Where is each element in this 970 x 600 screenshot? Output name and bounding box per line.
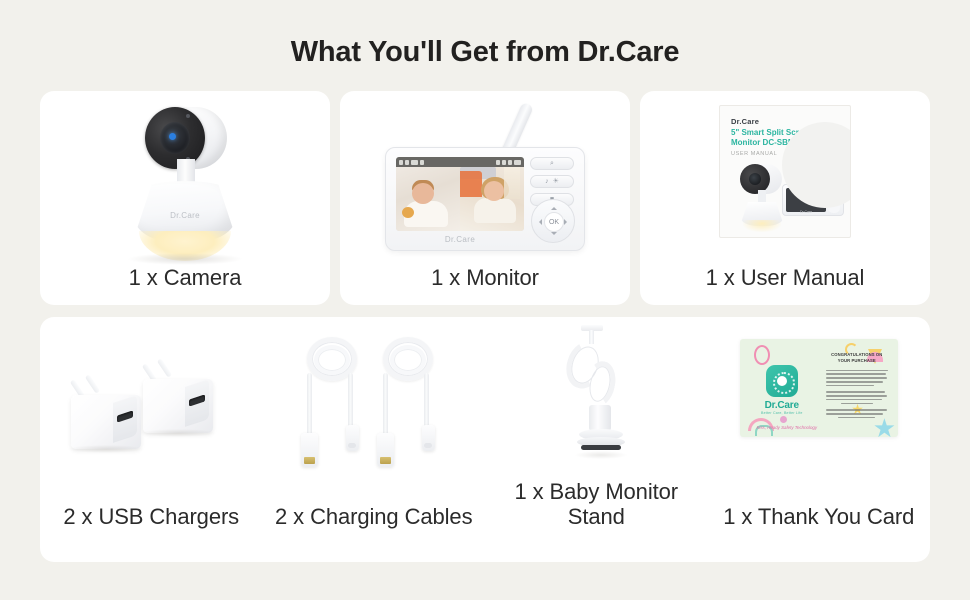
page-title: What You'll Get from Dr.Care (40, 0, 930, 91)
cable-one-lead-right (348, 373, 353, 429)
thank-you-paragraph-two (826, 391, 888, 404)
usb-charger-one (63, 379, 141, 449)
status-icon-clock (514, 160, 521, 165)
camera-lens-ring (145, 107, 205, 169)
monitor-button-zoom[interactable]: ⌕ (530, 157, 574, 170)
chevron-left-icon[interactable] (536, 219, 542, 225)
chevron-down-icon[interactable] (551, 232, 557, 238)
manual-camera-image (732, 164, 786, 230)
camera-drop-shadow (127, 253, 243, 265)
manual-camera-glow (743, 220, 781, 232)
caption-user-manual: 1 x User Manual (640, 265, 930, 291)
product-contents-page: What You'll Get from Dr.Care Dr.Care (0, 0, 970, 600)
monitor-pane-left (396, 167, 460, 231)
monitor-control-panel[interactable]: ⌕ ♪ ☀ ■ (530, 157, 576, 243)
manual-monitor-label: Dr.Care (786, 210, 826, 214)
thank-you-heading: CONGRATULATIONS ON YOUR PURCHASE (826, 352, 888, 365)
camera-device-icon: Dr.Care (119, 107, 251, 267)
card-camera[interactable]: Dr.Care 1 x Camera (40, 91, 330, 305)
cell-charging-cables[interactable]: 2 x Charging Cables (263, 317, 486, 562)
baby-one-toy (402, 207, 414, 218)
cable-one-usb-a-connector (301, 433, 318, 467)
monitor-device-icon: Dr.Care ⌕ ♪ ☀ ■ (380, 97, 590, 257)
usb-charger-two (135, 363, 213, 433)
cable-one-coil-inner (314, 345, 350, 375)
camera-lens (160, 122, 190, 154)
camera-brand-label: Dr.Care (119, 211, 251, 220)
camera-sensor-dot-top (186, 114, 190, 118)
dot-doodle-icon (780, 416, 787, 423)
manual-subtitle: USER MANUAL (731, 151, 777, 157)
caption-monitor: 1 x Monitor (340, 265, 630, 291)
monitor-brand-label: Dr.Care (396, 235, 524, 244)
cell-baby-monitor-stand[interactable]: 1 x Baby Monitor Stand (485, 317, 708, 562)
dr-care-logo-icon (766, 365, 798, 397)
card-user-manual[interactable]: Dr.Care 5" Smart Split Screen Baby Monit… (640, 91, 930, 305)
manual-camera-lens (749, 173, 761, 185)
ok-button[interactable]: OK (544, 212, 564, 232)
charging-cable-icons (299, 333, 449, 473)
cell-thank-you-card[interactable]: Dr.Care Better Care, Better Life Kiss, H… (708, 317, 931, 562)
cable-two-usb-a-connector (377, 433, 394, 467)
card-monitor[interactable]: Dr.Care ⌕ ♪ ☀ ■ (340, 91, 630, 305)
baby-two-body (474, 198, 516, 223)
brightness-icon: ☀ (553, 178, 559, 185)
monitor-split-view (396, 167, 524, 231)
monitor-button-lullaby[interactable]: ♪ ☀ (530, 175, 574, 188)
caption-usb-chargers: 2 x USB Chargers (40, 504, 263, 530)
thank-you-body: CONGRATULATIONS ON YOUR PURCHASE (826, 352, 888, 421)
charging-cable-one (299, 333, 365, 473)
status-icon-mode (496, 160, 500, 165)
stand-clamp-grip (581, 445, 621, 450)
chevron-up-icon[interactable] (551, 204, 557, 210)
monitor-body: Dr.Care ⌕ ♪ ☀ ■ (385, 147, 585, 251)
baby-two-head (484, 181, 504, 201)
chevron-right-icon[interactable] (564, 219, 570, 225)
baby-monitor-stand-icon (551, 325, 641, 465)
caption-charging-cables: 2 x Charging Cables (263, 504, 486, 530)
top-card-row: Dr.Care 1 x Camera (40, 91, 930, 305)
status-icon-signal (399, 160, 403, 165)
status-icon-record (508, 160, 512, 165)
charging-cable-two (375, 333, 441, 473)
charger-two-pin-right (157, 358, 172, 377)
manual-monitor-body: Dr.Care (782, 184, 844, 216)
cable-two-usb-c-connector (422, 425, 435, 451)
thank-you-footer: Kiss, Heady Safety Technology (750, 425, 824, 430)
cable-two-coil-inner (390, 345, 426, 375)
usb-charger-icons (63, 357, 239, 467)
cell-usb-chargers[interactable]: 2 x USB Chargers (40, 317, 263, 562)
caption-thank-you-card: 1 x Thank You Card (708, 504, 931, 530)
monitor-status-bar (396, 157, 524, 167)
cable-two-lead-right (424, 373, 429, 429)
manual-camera-neck (758, 190, 766, 204)
manual-title: 5" Smart Split Screen Baby Monitor DC-SB… (731, 128, 843, 148)
charger-one-shadow (69, 445, 143, 453)
cable-one-usb-c-connector (346, 425, 359, 451)
manual-monitor-antenna (786, 169, 799, 189)
charger-one-pin-right (85, 374, 100, 393)
bottom-card-row: 2 x USB Chargers (40, 317, 930, 562)
cable-one-lead-left (307, 373, 312, 437)
stand-drop-shadow (575, 451, 627, 459)
caption-baby-monitor-stand: 1 x Baby Monitor Stand (485, 479, 708, 530)
thank-you-paragraph-one (826, 370, 888, 387)
magnifier-icon: ⌕ (550, 160, 554, 167)
thank-you-brand: Dr.Care (754, 400, 810, 411)
manual-monitor-controls (828, 189, 840, 213)
manual-monitor-image: Dr.Care (782, 180, 844, 216)
monitor-screen (396, 157, 524, 231)
manual-cover: Dr.Care 5" Smart Split Screen Baby Monit… (719, 105, 851, 238)
stand-collar (589, 405, 611, 431)
status-icon-temp (411, 160, 418, 165)
thank-you-paragraph-three (826, 409, 888, 418)
thank-you-tagline: Better Care, Better Life (754, 411, 810, 415)
logo-inner-circle (777, 376, 787, 386)
status-icon-battery (405, 160, 409, 165)
thank-you-card-front: Dr.Care Better Care, Better Life Kiss, H… (740, 339, 898, 437)
music-note-icon: ♪ (545, 178, 549, 185)
monitor-pane-right (460, 167, 524, 231)
balloon-doodle-icon (754, 345, 770, 365)
baby-one-head (412, 183, 434, 204)
caption-camera: 1 x Camera (40, 265, 330, 291)
monitor-dpad[interactable]: OK (531, 199, 575, 243)
manual-monitor-screen (786, 188, 826, 212)
status-icon-night (502, 160, 506, 165)
cable-two-lead-left (383, 373, 388, 437)
charger-two-shadow (141, 429, 215, 437)
manual-brand: Dr.Care (731, 117, 759, 126)
status-icon-volume (420, 160, 424, 165)
